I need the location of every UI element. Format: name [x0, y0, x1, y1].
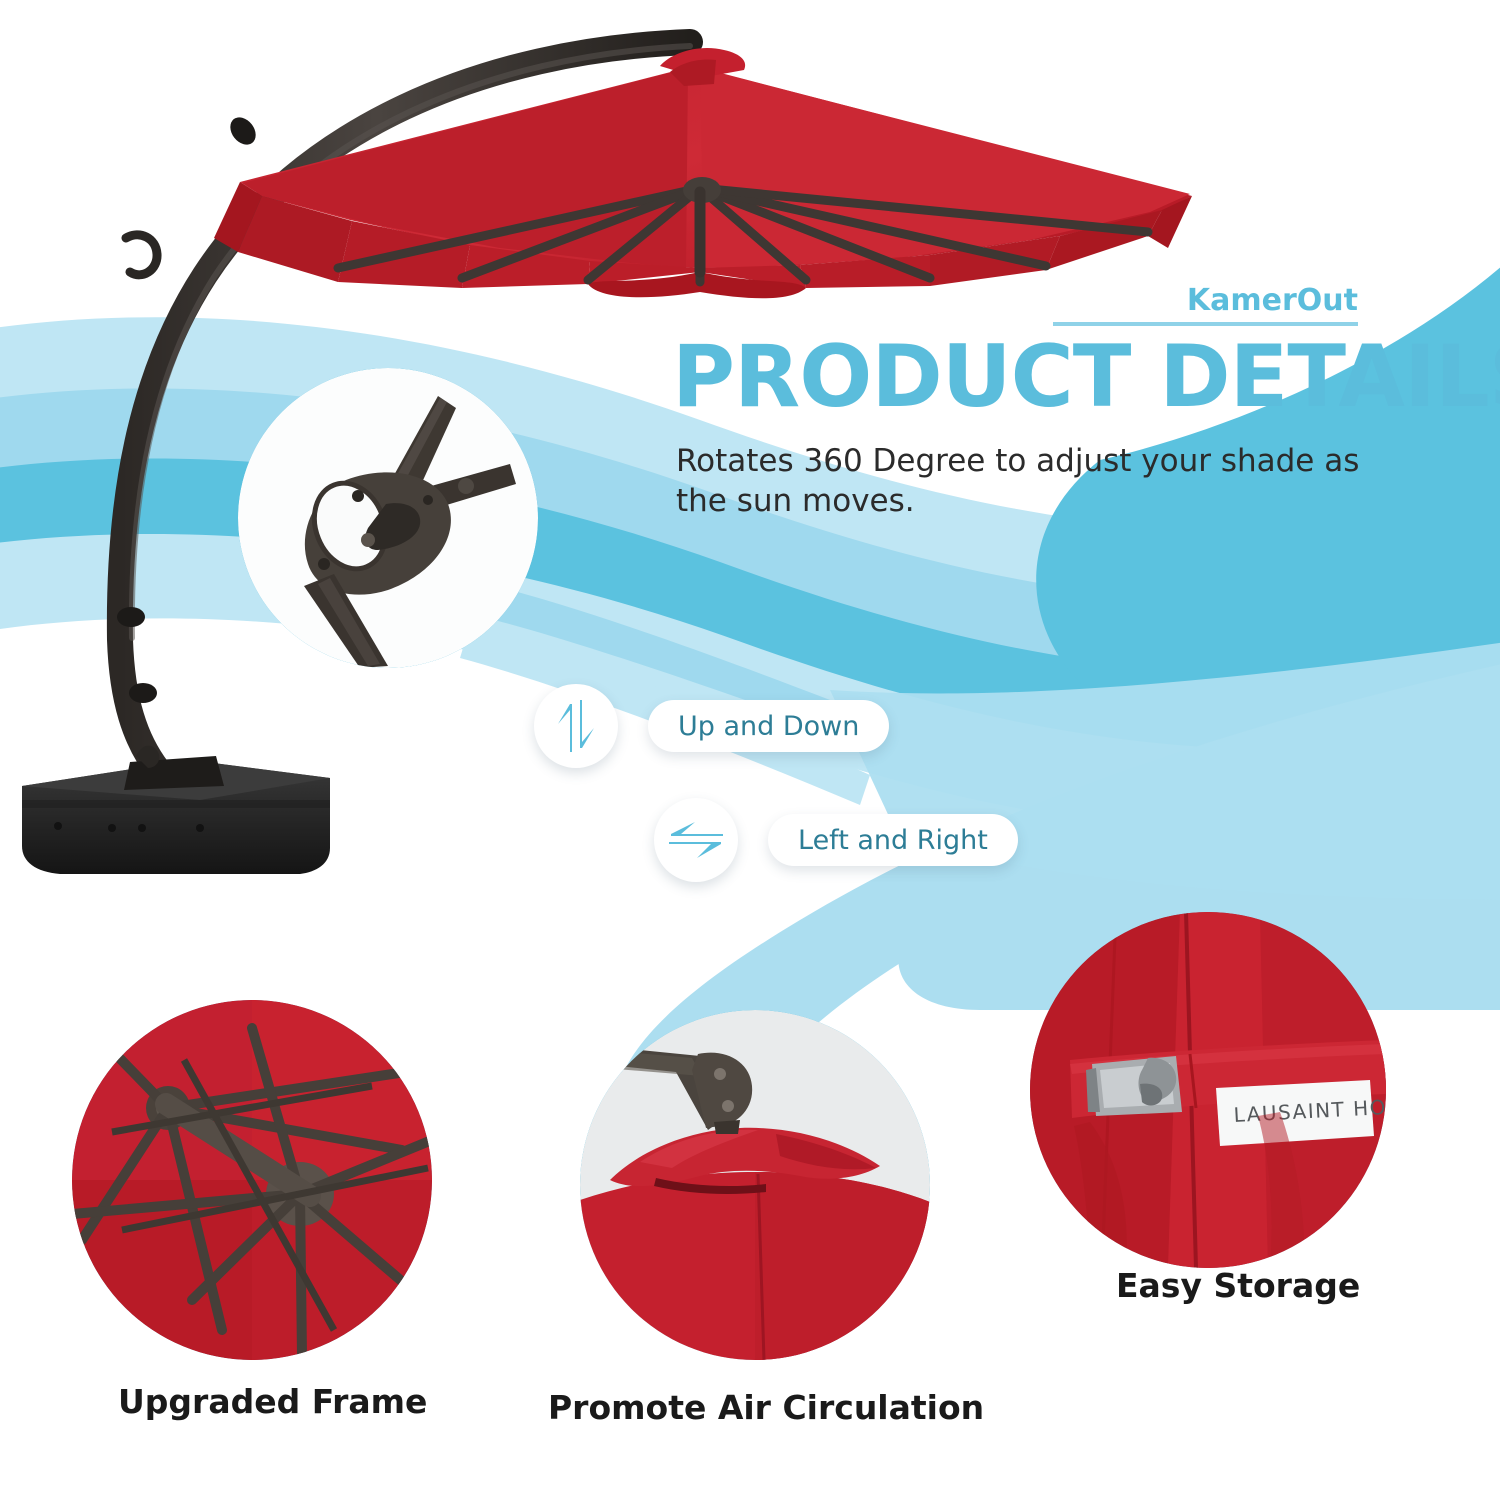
brand-name: KamerOut: [1187, 286, 1358, 316]
badge-left-right-text: Left and Right: [798, 825, 988, 856]
badge-up-down-text: Up and Down: [678, 711, 859, 742]
up-down-arrows-icon: [554, 700, 598, 752]
caption-promote-air-circulation: Promote Air Circulation: [548, 1388, 984, 1427]
product-details-infographic: Up and Down Left and Right: [0, 0, 1500, 1500]
badge-icon-left-right[interactable]: [654, 798, 738, 882]
badge-icon-up-down[interactable]: [534, 684, 618, 768]
arrow-left-shape: [671, 822, 723, 836]
badge-label-left-right[interactable]: Left and Right: [768, 814, 1018, 866]
left-right-arrows-icon: [669, 818, 723, 862]
page-subtitle: Rotates 360 Degree to adjust your shade …: [676, 442, 1372, 521]
brand-row: KamerOut: [672, 286, 1372, 326]
badge-label-up-down[interactable]: Up and Down: [648, 700, 889, 752]
arrow-up-shape: [558, 704, 572, 752]
page-title: PRODUCT DETAILS: [672, 334, 1372, 420]
arrow-down-shape: [580, 700, 594, 748]
header-block: KamerOut PRODUCT DETAILS Rotates 360 Deg…: [672, 286, 1372, 521]
caption-upgraded-frame: Upgraded Frame: [118, 1382, 427, 1421]
arrow-right-shape: [669, 842, 721, 858]
brand-underline: [1053, 322, 1358, 326]
caption-easy-storage: Easy Storage: [1116, 1266, 1360, 1305]
